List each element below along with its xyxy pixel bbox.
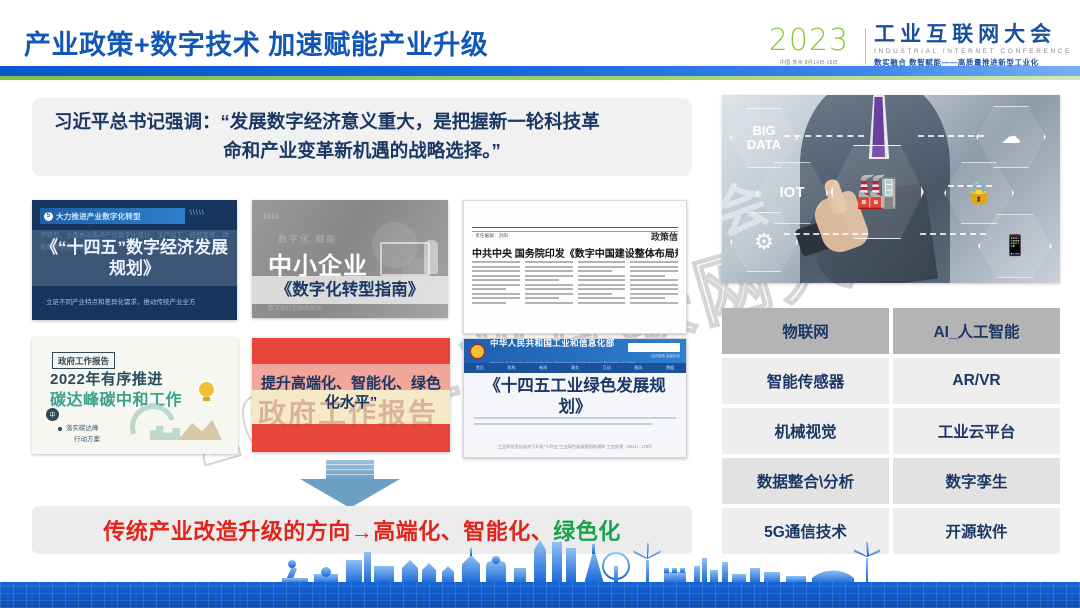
search-hint: 站内搜索 高级检索 <box>628 354 680 358</box>
card6-overlay-title: 《十四五工业绿色发展规划》 <box>464 369 686 425</box>
mountain-icon <box>178 418 222 440</box>
logo-text-block: 工业互联网大会 INDUSTRIAL INTERNET CONFERENCE 数… <box>874 24 1072 68</box>
policy-card-newspaper-digital-china[interactable]: · 责任编辑：刘阳 政策信 中共中央 国务院印发《数字中国建设整体布局规划》 <box>463 200 687 334</box>
mobile-device-icon: 📱 <box>1003 236 1028 257</box>
table-cell-iot: 物联网 <box>722 308 889 354</box>
newspaper-columns <box>472 261 678 325</box>
table-cell-industrial-cloud: 工业云平台 <box>893 408 1060 454</box>
down-arrow-icon <box>300 460 400 508</box>
card1-footer-text: · 立足不同产业特点和差异化需求，推动传统产业全方 <box>42 296 229 306</box>
newspaper-column <box>578 261 626 325</box>
card2-overlay-title: 《数字化转型指南》 <box>252 276 448 304</box>
arrow-head <box>300 479 400 508</box>
card2-tick-marks: ‖‖‖‖ <box>264 214 280 221</box>
policy-card-digital-economy-plan[interactable]: 5 大力推进产业数字化转型 \\\\\ 济转型，全面推动重点产业数字化设计、生产… <box>32 200 237 320</box>
card1-header-bar: 5 大力推进产业数字化转型 <box>40 208 185 224</box>
policy-card-upgrade-level[interactable]: 政府工作报告 提升高端化、智能化、绿色化水平” <box>252 338 450 452</box>
card4-badge: 中 <box>46 408 59 421</box>
table-cell-data-analysis: 数据整合\分析 <box>722 458 889 504</box>
bullet-dot-icon <box>58 427 62 431</box>
card1-number-badge: 5 <box>44 212 53 221</box>
card4-report-tag: 政府工作报告 <box>52 352 115 369</box>
quote-line-1: 习近平总书记强调：“发展数字经济意义重大，是把握新一轮科技革 <box>54 108 600 137</box>
table-cell-smart-sensor: 智能传感器 <box>722 358 889 404</box>
card2-footer-text: 数字化转型指南解读 <box>268 303 322 312</box>
policy-card-sme-digital-guide[interactable]: ‖‖‖‖ 数字化 赋能 中小企业 数字化转型指南解读 《数字化转型指南》 <box>252 200 448 318</box>
card2-subtitle: 数字化 赋能 <box>278 232 338 245</box>
card6-footnote: 工业和信息化部关于印发“十四五”工业绿色发展规划的通知 工信部规〔2021〕17… <box>464 444 686 451</box>
skyline-svg <box>0 540 1080 584</box>
miit-site-header: 中华人民共和国工业和信息化部 Ministry of Industry and … <box>464 339 686 363</box>
slide: 产业政策+数字技术 加速赋能产业升级 2023 中国·苏州 8月14日-16日 … <box>0 0 1080 608</box>
newspaper-rule-1 <box>472 227 678 228</box>
table-cell-ai: AI_人工智能 <box>893 308 1060 354</box>
table-cell-digital-twin: 数字孪生 <box>893 458 1060 504</box>
newspaper-column <box>630 261 678 325</box>
technology-table: 物联网 AI_人工智能 智能传感器 AR/VR 机械视觉 工业云平台 数据整合\… <box>722 308 1060 554</box>
card4-bullet-1: 落实碳达峰 <box>66 422 99 432</box>
policy-card-govt-work-report-carbon[interactable]: 政府工作报告 2022年有序推进 碳达峰碳中和工作 中 落实碳达峰 行动方案 <box>32 338 238 454</box>
logo-english-name: INDUSTRIAL INTERNET CONFERENCE <box>874 48 1072 55</box>
slide-header: 产业政策+数字技术 加速赋能产业升级 2023 中国·苏州 8月14日-16日 … <box>0 0 1080 80</box>
page-title: 产业政策+数字技术 加速赋能产业升级 <box>24 23 488 62</box>
card4-bullet-2: 行动方案 <box>74 433 100 443</box>
table-cell-arvr: AR/VR <box>893 358 1060 404</box>
factory-icon: 🏭 <box>856 174 898 210</box>
arrow-shaft <box>326 460 374 480</box>
quote-box: 习近平总书记强调：“发展数字经济意义重大，是把握新一轮科技革 命和产业变革新机遇… <box>32 98 692 176</box>
card5-overlay-title: 提升高端化、智能化、绿色化水平” <box>252 366 450 422</box>
table-cell-machine-vision: 机械视觉 <box>722 408 889 454</box>
skyline-graphic <box>0 540 1080 584</box>
shield-lock-icon: 🔒 <box>965 181 992 204</box>
logo-tagline: 数实融合 数智赋能——高质量推进新型工业化 <box>874 57 1072 68</box>
person-silhouette-icon <box>424 240 438 274</box>
logo-chinese-name: 工业互联网大会 <box>874 24 1072 46</box>
national-emblem-icon <box>470 344 485 359</box>
card5-stripe-1 <box>252 338 450 364</box>
newspaper-meta: · 责任编辑：刘阳 <box>472 233 508 239</box>
search-input[interactable] <box>628 343 680 352</box>
newspaper-column <box>525 261 573 325</box>
cloud-gear-hex: ☁ <box>976 105 1046 169</box>
card1-decoration-dots: \\\\\ <box>190 210 205 217</box>
logo-year-subtitle: 中国·苏州 8月14日-16日 <box>780 59 838 66</box>
lightbulb-icon <box>199 382 214 397</box>
logo-year: 2023 <box>769 26 849 56</box>
miit-site-name: 中华人民共和国工业和信息化部 <box>490 338 615 348</box>
footer-mesh-pattern <box>0 582 1080 608</box>
header-green-bar <box>0 76 1080 80</box>
newspaper-headline: 中共中央 国务院印发《数字中国建设整体布局规划》 <box>472 245 678 260</box>
card1-overlay-title: 《“十四五”数字经济发展规划》 <box>32 230 237 286</box>
quote-line-2: 命和产业变革新机遇的战略选择。” <box>223 137 501 166</box>
iot-concept-image: BIGDATA IOT ⚙ 🏭 ☁ 🔒 📱 会 <box>722 95 1060 283</box>
laptop-icon <box>380 242 430 276</box>
cloud-download-icon: ☁ <box>1001 127 1021 148</box>
footer-blue-strip <box>0 582 1080 608</box>
slide-footer <box>0 546 1080 608</box>
conference-logo: 2023 中国·苏州 8月14日-16日 工业互联网大会 INDUSTRIAL … <box>769 22 1072 70</box>
iot-label: IOT <box>780 185 805 201</box>
logo-year-block: 2023 中国·苏州 8月14日-16日 <box>769 26 857 66</box>
logo-divider <box>865 28 866 64</box>
big-data-hex: BIGDATA <box>730 107 798 169</box>
policy-card-miit-green-plan[interactable]: 中华人民共和国工业和信息化部 Ministry of Industry and … <box>463 338 687 458</box>
newspaper-column <box>472 261 520 325</box>
card1-header-label: 大力推进产业数字化转型 <box>56 211 141 222</box>
big-data-label: BIGDATA <box>747 124 781 151</box>
newspaper-section-stamp: 政策信 <box>651 230 678 243</box>
newspaper-rule-2 <box>472 231 678 232</box>
